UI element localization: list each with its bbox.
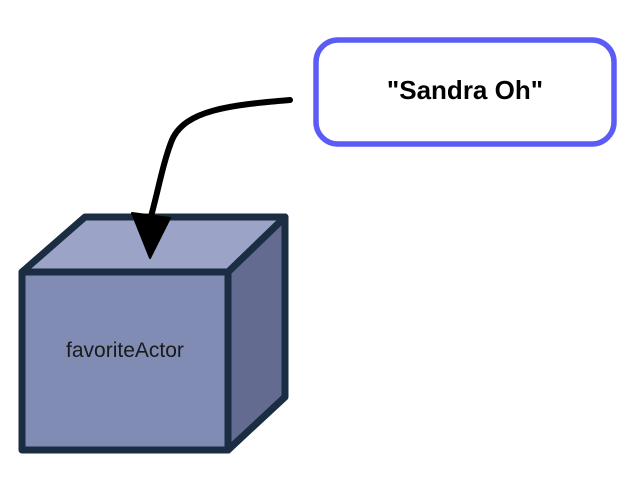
assignment-arrow-line [150, 100, 290, 220]
diagram-canvas: favoriteActor "Sandra Oh" [0, 0, 639, 484]
value-box-label: "Sandra Oh" [316, 74, 614, 106]
diagram-svg [0, 0, 639, 484]
cube-variable-label: favoriteActor [22, 338, 228, 364]
